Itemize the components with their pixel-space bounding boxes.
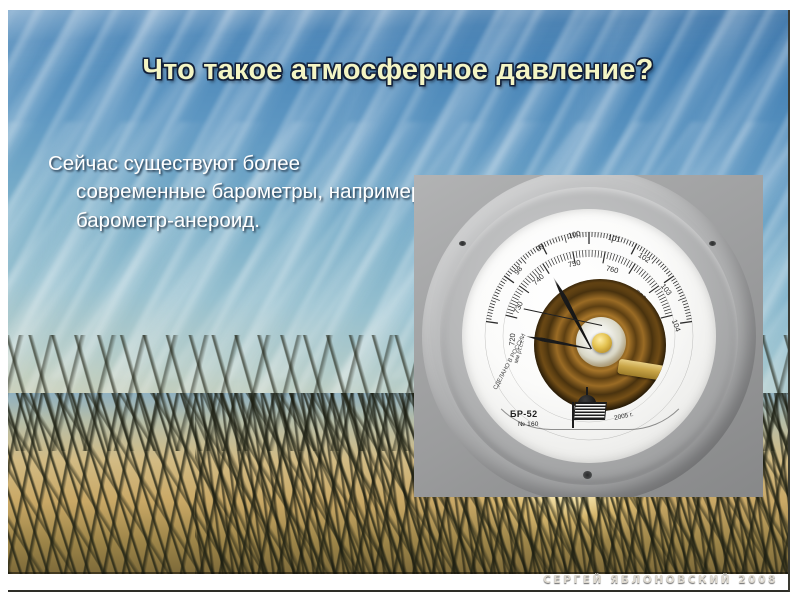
slide: Что такое атмосферное давление? Сейчас с…	[8, 10, 790, 592]
body-paragraph: Сейчас существуют более современные баро…	[48, 150, 426, 235]
case-screw-icon	[583, 471, 592, 479]
author-watermark: СЕРГЕЙ ЯБЛОНОВСКИЙ 2008	[543, 574, 778, 586]
page-title: Что такое атмосферное давление?	[8, 54, 788, 87]
manufacturer-logo-icon	[573, 402, 607, 420]
dial-serial-label: № 160	[462, 421, 716, 428]
barometer-image: 98 99 100 101 102 103 104 720 730 740 75…	[414, 175, 763, 497]
capsule-center-boss	[592, 333, 612, 353]
barometer-dial: 98 99 100 101 102 103 104 720 730 740 75…	[462, 209, 716, 463]
